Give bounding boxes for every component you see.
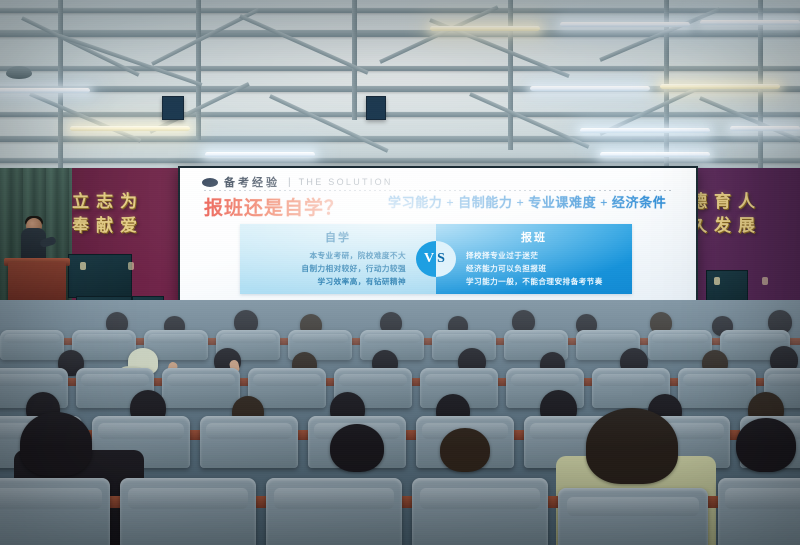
seat [200,416,298,468]
audience-head-foreground [20,412,92,476]
audience-head [440,428,490,472]
seat [120,478,256,545]
ceiling-light-tube [580,128,710,133]
ceiling-light-tube [70,126,190,131]
comparison-column-self-study: 自学 本专业考研，院校难度不大 自制力相对较好，行动力较强 学习效率高，有钻研精… [240,224,436,294]
ceiling-spotlight [6,66,32,79]
ceiling-light-tube [600,152,710,157]
ellipse-bullet-icon [202,178,218,187]
list-item: 学习效率高，有钻研精神 [240,275,406,288]
list-item: 择校择专业过于迷茫 [466,249,632,262]
comparison-column-enroll-class: 报班 择校择专业过于迷茫 经济能力可以负担报班 学习能力一般，不能合理安排备考节… [436,224,632,294]
ceiling-vent-box [366,96,386,120]
slide-brand-divider: | [288,177,291,188]
ceiling-column [196,0,201,140]
ceiling-purlin [0,136,800,142]
column-items-self-study: 本专业考研，院校难度不大 自制力相对较好，行动力较强 学习效率高，有钻研精神 [240,249,436,288]
seat [0,330,64,360]
list-item: 学习能力一般，不能合理安排备考节奏 [466,275,632,288]
ceiling-light-tube [560,22,690,27]
seat [718,478,800,545]
list-item: 本专业考研，院校难度不大 [240,249,406,262]
seat [162,368,240,408]
seat [678,368,756,408]
ceiling-light-tube [430,26,540,31]
ceiling-truss-structure [0,0,800,172]
list-item: 经济能力可以负担报班 [466,262,632,275]
seat [266,478,402,545]
ceiling-purlin [0,30,800,37]
projection-screen: 备考经验 | THE SOLUTION 报班还是自学？ 学习能力 + 自制能力 … [180,168,696,310]
ceiling-column [508,0,513,150]
seat [558,488,708,545]
seat [648,330,712,360]
vs-letter-s: S [437,251,448,267]
comparison-table: 自学 本专业考研，院校难度不大 自制力相对较好，行动力较强 学习效率高，有钻研精… [240,224,632,294]
ceiling-light-tube [205,152,315,157]
projection-screen-frame: 备考经验 | THE SOLUTION 报班还是自学？ 学习能力 + 自制能力 … [178,166,698,312]
slide-brand-en: THE SOLUTION [299,177,393,187]
stage-speaker-cabinet [68,254,132,298]
ceiling-light-tube [530,86,650,91]
vs-letter-v: V [424,251,437,267]
slide-brand-cn: 备考经验 [224,174,280,190]
column-header-enroll-class: 报班 [436,229,632,245]
audience-seating-area [0,300,800,545]
ceiling-light-tube [660,84,780,89]
ceiling-purlin [0,112,800,117]
slide-brand-header: 备考经验 | THE SOLUTION [202,174,393,190]
audience-head-foreground [586,408,678,484]
ceiling-purlin [0,158,800,163]
ceiling-purlin [0,8,800,13]
ceiling-light-tube [0,88,90,93]
ceiling-light-tube [730,126,800,131]
lecture-hall-photo: 立志为奉献爱 立德育人恒久发展 备考经验 | THE SOLUTION 报班还是… [0,0,800,545]
slide-subtitle: 学习能力 + 自制能力 + 专业课难度 + 经济条件 [388,194,688,213]
ceiling-vent-box [162,96,184,120]
column-header-self-study: 自学 [240,229,436,245]
audience-head [330,424,384,472]
slide-title: 报班还是自学？ [204,193,344,220]
ceiling-column [352,0,357,120]
ceiling-column [58,0,63,172]
column-items-enroll-class: 择校择专业过于迷茫 经济能力可以负担报班 学习能力一般，不能合理安排备考节奏 [436,249,632,288]
slide-divider-dotted [204,190,672,191]
seat [0,478,110,545]
audience-head [736,418,796,472]
ceiling-light-tube [700,20,800,25]
vs-badge-icon: V S [416,241,456,277]
seat [412,478,548,545]
list-item: 自制力相对较好，行动力较强 [240,262,406,275]
wall-slogan-left: 立志为奉献爱 [72,190,144,238]
